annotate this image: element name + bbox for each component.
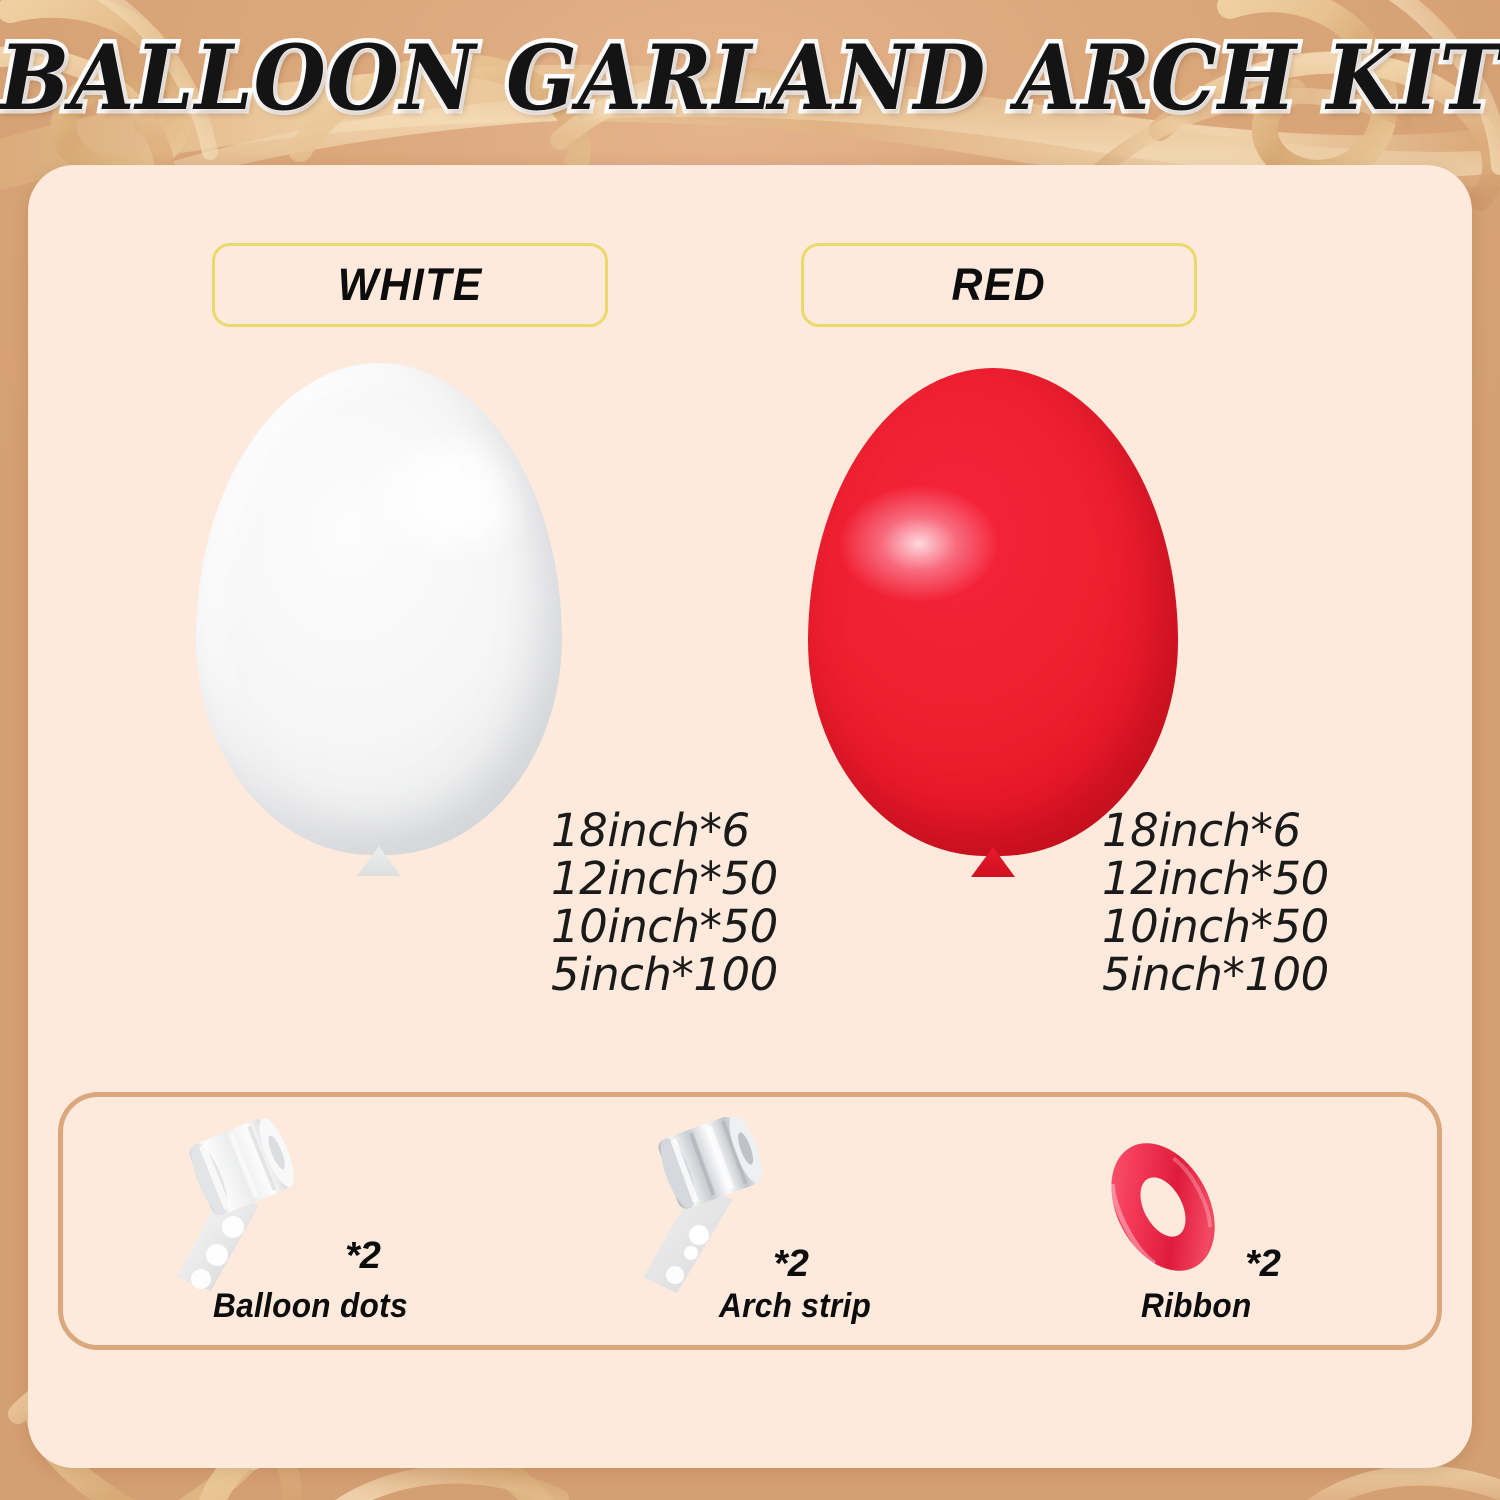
accessory-count: *2 <box>773 1243 809 1286</box>
size-line: 10inch*50 <box>1102 903 1329 951</box>
red-balloon-icon <box>808 368 1178 856</box>
color-badge-red[interactable]: RED <box>801 243 1197 327</box>
size-line: 18inch*6 <box>551 807 778 855</box>
glue-dots-roll-icon <box>171 1119 311 1309</box>
accessory-label: Balloon dots <box>213 1287 408 1326</box>
white-balloon-body <box>196 363 562 855</box>
accessory-balloon-dots: *2 Balloon dots <box>63 1097 533 1345</box>
size-line: 10inch*50 <box>551 903 778 951</box>
accessory-ribbon: *2 Ribbon <box>983 1097 1447 1345</box>
red-balloon-size-list: 18inch*6 12inch*50 10inch*50 5inch*100 <box>1102 807 1329 999</box>
accessory-count: *2 <box>345 1235 381 1278</box>
size-line: 12inch*50 <box>551 855 778 903</box>
red-balloon-body <box>808 368 1178 856</box>
accessory-label: Ribbon <box>1141 1287 1252 1326</box>
accessory-arch-strip: *2 Arch strip <box>523 1097 993 1345</box>
white-balloon-icon <box>196 363 562 855</box>
size-line: 5inch*100 <box>1102 951 1329 999</box>
accessory-label: Arch strip <box>719 1287 871 1326</box>
accessory-count: *2 <box>1245 1243 1281 1286</box>
color-badge-white-label: WHITE <box>338 259 483 311</box>
size-line: 5inch*100 <box>551 951 778 999</box>
white-balloon-size-list: 18inch*6 12inch*50 10inch*50 5inch*100 <box>551 807 778 999</box>
color-badge-white[interactable]: WHITE <box>212 243 608 327</box>
size-line: 18inch*6 <box>1102 807 1329 855</box>
arch-strip-roll-icon <box>641 1117 781 1307</box>
ribbon-spool-icon <box>1083 1127 1243 1287</box>
color-badge-red-label: RED <box>952 259 1047 311</box>
size-line: 12inch*50 <box>1102 855 1329 903</box>
accessories-panel: *2 Balloon dots <box>58 1092 1442 1350</box>
